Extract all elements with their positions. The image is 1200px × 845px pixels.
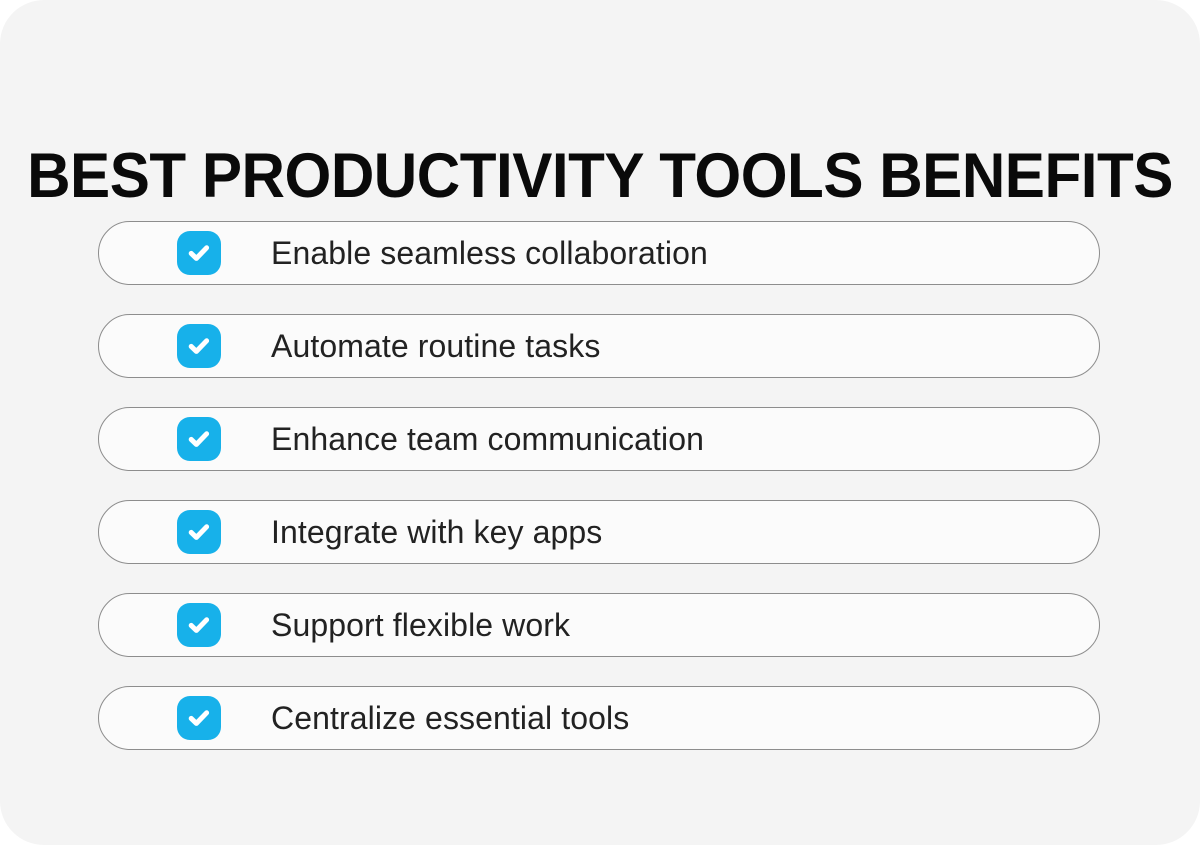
benefits-list: Enable seamless collaboration Automate r… — [98, 221, 1100, 750]
list-item-label: Integrate with key apps — [271, 513, 602, 551]
list-item[interactable]: Automate routine tasks — [98, 314, 1100, 378]
check-icon[interactable] — [177, 696, 221, 740]
list-item-label: Support flexible work — [271, 606, 570, 644]
check-icon[interactable] — [177, 603, 221, 647]
benefits-card: BEST PRODUCTIVITY TOOLS BENEFITS Enable … — [0, 0, 1200, 845]
list-item[interactable]: Enable seamless collaboration — [98, 221, 1100, 285]
list-item-label: Enable seamless collaboration — [271, 234, 708, 272]
list-item[interactable]: Support flexible work — [98, 593, 1100, 657]
list-item[interactable]: Integrate with key apps — [98, 500, 1100, 564]
check-icon[interactable] — [177, 510, 221, 554]
page-title: BEST PRODUCTIVITY TOOLS BENEFITS — [27, 141, 1173, 211]
list-item-label: Centralize essential tools — [271, 699, 629, 737]
list-item-label: Automate routine tasks — [271, 327, 600, 365]
check-icon[interactable] — [177, 417, 221, 461]
list-item[interactable]: Enhance team communication — [98, 407, 1100, 471]
list-item-label: Enhance team communication — [271, 420, 704, 458]
check-icon[interactable] — [177, 231, 221, 275]
list-item[interactable]: Centralize essential tools — [98, 686, 1100, 750]
check-icon[interactable] — [177, 324, 221, 368]
